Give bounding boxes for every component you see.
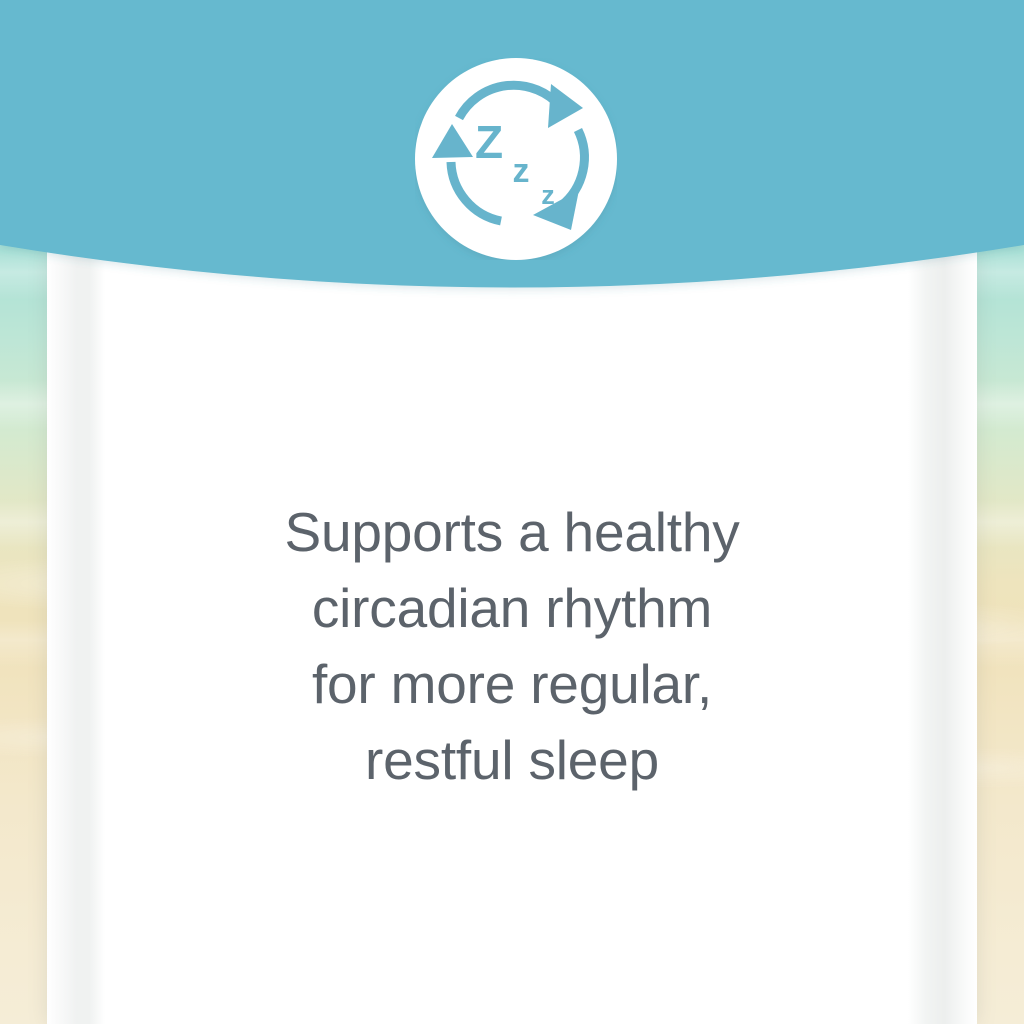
headline-line-2: circadian rhythm <box>0 570 1024 646</box>
zzz-small-icon: z <box>541 180 555 210</box>
headline-line-1: Supports a healthy <box>0 494 1024 570</box>
headline-text: Supports a healthy circadian rhythm for … <box>0 494 1024 798</box>
headline-line-4: restful sleep <box>0 722 1024 798</box>
zzz-large-icon: Z <box>475 116 503 168</box>
promo-card-canvas: Z z z Supports a healthy circadian rhyth… <box>0 0 1024 1024</box>
headline-line-3: for more regular, <box>0 646 1024 722</box>
zzz-medium-icon: z <box>513 152 530 190</box>
sleep-cycle-icon: Z z z <box>415 58 617 260</box>
